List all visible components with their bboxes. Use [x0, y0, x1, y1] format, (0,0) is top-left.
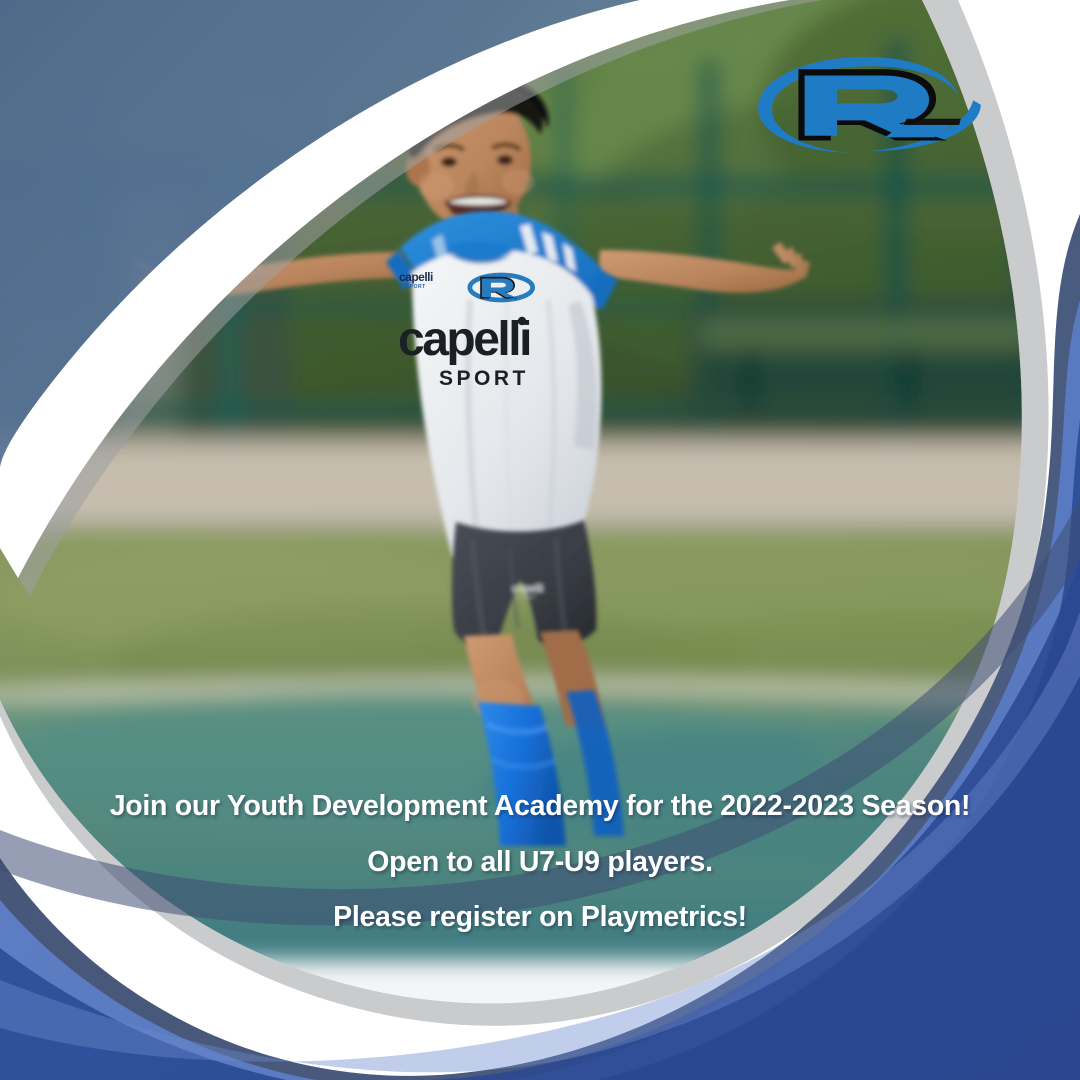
rush-soccer-r-logo: [752, 42, 984, 160]
brand-swoosh-decor: [0, 0, 1080, 1080]
flyer-canvas: capelli SPORT capelli SPORT: [0, 0, 1080, 1080]
rush-soccer-r-logo-glyph: [752, 42, 984, 160]
